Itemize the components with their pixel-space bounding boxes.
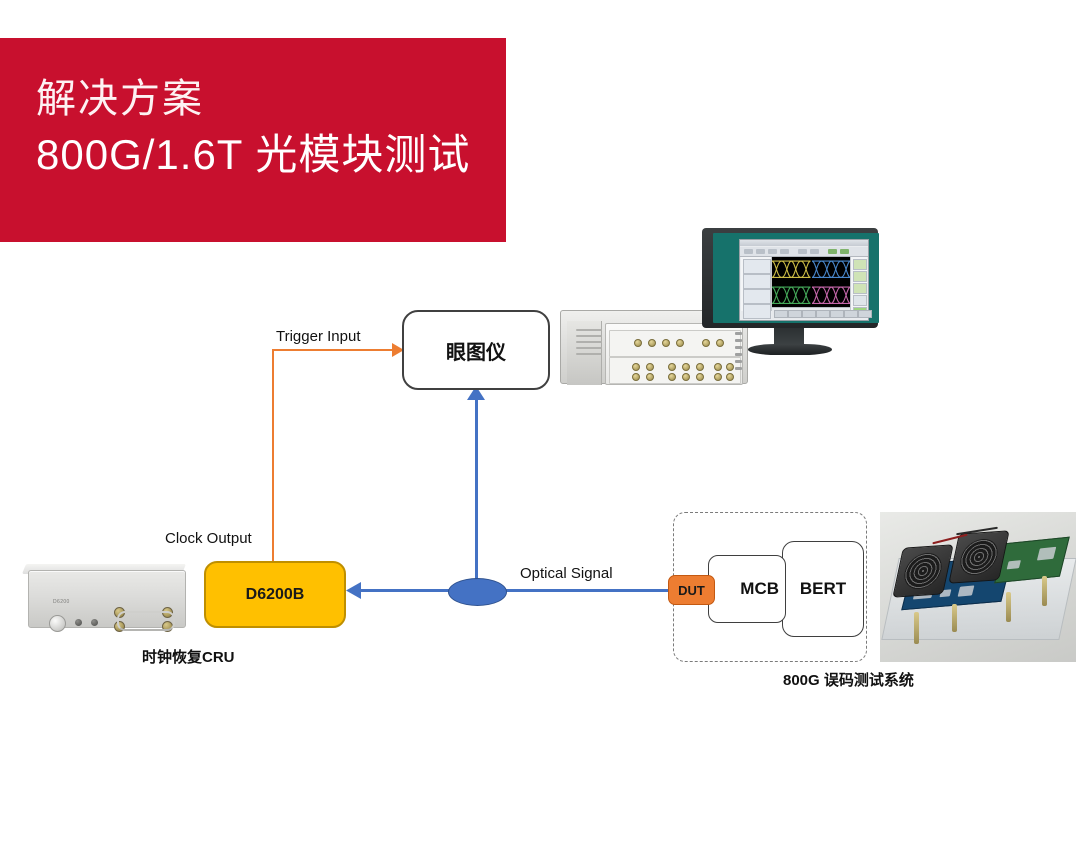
slide-canvas: 解决方案 800G/1.6T 光模块测试 眼图仪 D6200B BERT MCB… (0, 0, 1080, 864)
photo-bert-test-fixture (880, 512, 1076, 662)
node-eye-diagram-analyzer-label: 眼图仪 (446, 336, 506, 365)
label-clock-output: Clock Output (165, 530, 252, 547)
trigger-line-horizontal (272, 349, 399, 351)
eye-diagram-lane-4 (812, 283, 851, 308)
label-optical-signal: Optical Signal (520, 565, 613, 582)
node-dut[interactable]: DUT (668, 575, 715, 605)
monitor-screen (713, 233, 879, 323)
node-eye-diagram-analyzer[interactable]: 眼图仪 (402, 310, 550, 390)
cru-loopback-cable (117, 611, 175, 631)
eye-diagram-grid (772, 257, 850, 307)
fixture-standoff-1 (914, 612, 919, 644)
fixture-standoff-3 (1006, 592, 1011, 622)
node-bert[interactable]: BERT (782, 541, 864, 637)
caption-bert-system-photo: 800G 误码测试系统 (783, 669, 914, 690)
optical-line-to-eye-analyzer (475, 398, 478, 582)
app-toolbar (740, 247, 868, 257)
monitor-bezel (702, 228, 878, 328)
app-status-bar (772, 307, 850, 319)
app-title-bar (740, 240, 868, 246)
cru-brand-text: D6200 (53, 599, 70, 605)
label-trigger-input: Trigger Input (276, 328, 361, 345)
banner-heading-primary: 解决方案 (36, 72, 488, 126)
fixture-standoff-4 (1042, 576, 1047, 606)
node-mcb[interactable]: MCB (708, 555, 786, 623)
monitor-stand-base (748, 344, 832, 355)
photo-clock-recovery-unit: D6200 (16, 556, 196, 638)
node-clock-recovery-label: D6200B (246, 586, 305, 604)
title-banner: 解决方案 800G/1.6T 光模块测试 (0, 38, 506, 242)
cru-knob-2-icon (91, 619, 98, 626)
photo-eye-diagram-monitor (696, 228, 882, 362)
optical-line-dut-to-splitter (500, 589, 675, 592)
eye-diagram-lane-2 (812, 257, 851, 282)
app-measurement-buttons (850, 257, 867, 311)
node-bert-label: BERT (800, 579, 846, 599)
app-lane-settings-panel (741, 257, 772, 311)
title-banner-text: 解决方案 800G/1.6T 光模块测试 (36, 72, 488, 184)
eye-diagram-lane-1 (772, 257, 811, 282)
node-dut-label: DUT (678, 583, 705, 598)
rack-vent-panel (567, 321, 602, 385)
node-clock-recovery-d6200b[interactable]: D6200B (204, 561, 346, 628)
node-mcb-label: MCB (740, 579, 779, 599)
caption-cru-photo: 时钟恢复CRU (142, 646, 235, 667)
eye-analysis-app-window (739, 239, 869, 321)
cru-knob-1-icon (75, 619, 82, 626)
node-optical-splitter[interactable] (448, 578, 507, 606)
trigger-line-vertical (272, 350, 274, 562)
eye-diagram-lane-3 (772, 283, 811, 308)
cru-chassis-front: D6200 (28, 570, 186, 628)
optical-line-splitter-to-cru (360, 589, 455, 592)
fixture-standoff-2 (952, 604, 957, 632)
cru-bnc-connector-icon (49, 615, 66, 632)
banner-heading-secondary: 800G/1.6T 光模块测试 (36, 126, 488, 184)
